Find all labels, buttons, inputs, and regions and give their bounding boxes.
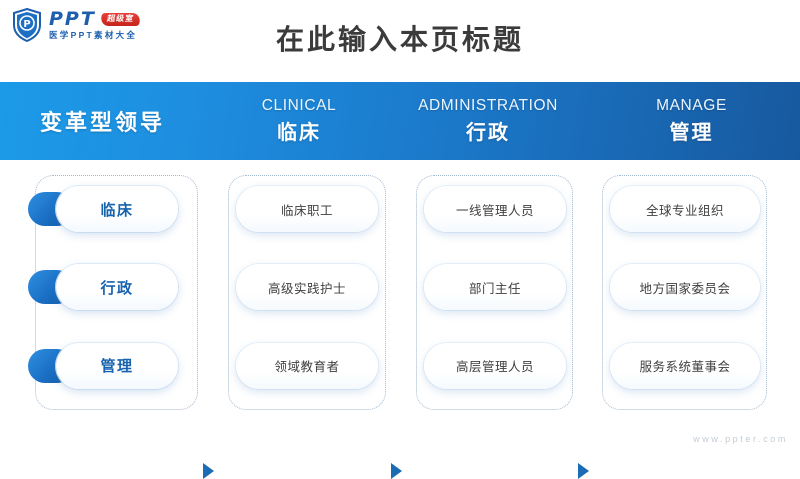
band-column-clinical: CLINICAL 临床: [205, 82, 393, 160]
list-item[interactable]: 地方国家委员会: [610, 264, 760, 310]
flow-column-2: 临床职工 高级实践护士 领域教育者: [236, 170, 378, 405]
band-label-cn-2: 临床: [277, 116, 321, 145]
band-columns: 变革型领导 CLINICAL 临床 ADMINISTRATION 行政 MANA…: [0, 82, 800, 160]
band-label-cn-3: 行政: [466, 116, 510, 145]
pill-label: 临床: [56, 186, 178, 232]
flow-column-1: 临床 行政 管理: [28, 170, 208, 405]
list-item[interactable]: 一线管理人员: [424, 186, 566, 232]
flow-column-4: 全球专业组织 地方国家委员会 服务系统董事会: [610, 170, 760, 405]
arrow-right-icon: [578, 463, 589, 479]
list-item[interactable]: 服务系统董事会: [610, 343, 760, 389]
flow-column-3: 一线管理人员 部门主任 高层管理人员: [424, 170, 566, 405]
list-item[interactable]: 全球专业组织: [610, 186, 760, 232]
list-item[interactable]: 领域教育者: [236, 343, 378, 389]
list-item[interactable]: 临床职工: [236, 186, 378, 232]
flow-diagram: 临床 行政 管理 临床职工 高级实践护士 领域教育者 一线管理人员 部门主任 高…: [0, 170, 800, 415]
list-item[interactable]: 高级实践护士: [236, 264, 378, 310]
list-item[interactable]: 部门主任: [424, 264, 566, 310]
band-column-leadership: 变革型领导: [0, 82, 205, 160]
band-label-en-4: MANAGE: [656, 97, 727, 115]
band-label-en-2: CLINICAL: [262, 97, 337, 115]
watermark: www.ppter.com: [693, 434, 788, 444]
band-column-manage: MANAGE 管理: [583, 82, 800, 160]
band-label-cn-4: 管理: [670, 116, 714, 145]
band-label-cn-1: 变革型领导: [40, 105, 165, 137]
pill-label: 管理: [56, 343, 178, 389]
band-label-en-3: ADMINISTRATION: [418, 97, 558, 115]
arrow-right-icon: [391, 463, 402, 479]
page-title: 在此输入本页标题: [0, 18, 800, 58]
list-item[interactable]: 行政: [28, 264, 178, 310]
pill-label: 行政: [56, 264, 178, 310]
list-item[interactable]: 高层管理人员: [424, 343, 566, 389]
arrow-right-icon: [203, 463, 214, 479]
band-column-administration: ADMINISTRATION 行政: [393, 82, 583, 160]
category-header-band: 变革型领导 CLINICAL 临床 ADMINISTRATION 行政 MANA…: [0, 82, 800, 160]
list-item[interactable]: 管理: [28, 343, 178, 389]
list-item[interactable]: 临床: [28, 186, 178, 232]
